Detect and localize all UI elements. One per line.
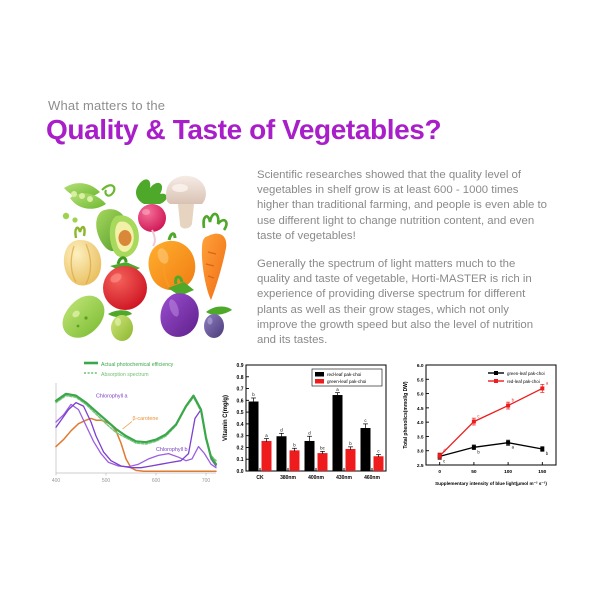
eyebrow-text: What matters to the [48,98,165,113]
y-tick-label: 0.8 [237,375,244,381]
y-tick-label: 6.0 [417,363,424,369]
chart-spectrum: Actual photochemical efficiencyAbsorptio… [40,355,220,500]
x-tick-label: 150 [538,469,546,475]
y-tick-label: 0.3 [237,434,244,440]
y-axis-title: Vitamin C(mg/g) [223,395,229,441]
series-line-0 [440,443,543,457]
legend-swatch-0 [315,372,324,377]
legend-label-1: green-leaf pak-choi [327,379,366,384]
sig-letter: b [252,392,255,397]
green-olive-icon [108,310,133,341]
y-tick-label: 2.5 [417,463,424,469]
sig-letter: c [477,414,479,419]
sig-letter: d [308,430,311,435]
sig-letter: b [349,441,352,446]
bar-430nm-1 [346,449,356,471]
x-tick-label: 400nm [308,475,324,481]
y-tick-label: 0.6 [237,398,244,404]
bar-430nm-0 [333,395,343,471]
x-tick-label: 600 [152,478,161,484]
annotation-leader [123,422,133,429]
x-tick-label: 500 [102,478,111,484]
x-tick-label: 430nm [336,475,352,481]
bar-400nm-0 [305,441,315,471]
y-tick-label: 3.5 [417,434,424,440]
black-olive-icon [204,307,232,339]
x-tick-label: 100 [504,469,512,475]
sig-letter: d [280,428,283,433]
y-tick-label: 0.1 [237,457,244,463]
radish-icon [136,179,167,246]
sig-letter: a [546,380,549,385]
sig-letter: a [265,433,268,438]
series-absorption-spectrum [56,396,216,461]
poster-page: What matters to the Quality & Taste of V… [0,0,600,600]
sig-letter: b [477,449,480,454]
x-axis-title: Supplementary intensity of blue light(μm… [435,481,547,486]
x-tick-label: 380nm [280,475,296,481]
y-tick-label: 5.0 [417,392,424,398]
vegetables-illustration [56,166,242,342]
data-point [506,404,510,408]
legend: green-leaf pak-choired-leaf pak-choi [488,371,545,384]
charts-strip: Actual photochemical efficiencyAbsorptio… [0,355,600,500]
annotation-2: Chlorophyll b [156,447,187,453]
cucumber-icon [63,296,105,338]
legend-label-0: red-leaf pak-choi [327,372,361,377]
sig-letter: c [377,449,380,454]
carrot-icon [202,214,227,300]
bar-380nm-0 [277,436,287,471]
data-point [506,441,510,445]
bar-460nm-0 [361,428,371,471]
x-tick-label: 400 [52,478,61,484]
page-title: Quality & Taste of Vegetables? [46,114,441,146]
y-tick-label: 0.4 [237,422,244,428]
chart-vitamin-c: 0.00.10.20.30.40.50.60.70.80.9Vitamin C(… [216,355,392,500]
sig-letter: c [443,458,445,463]
legend-label-efficiency: Actual photochemical efficiency [101,362,174,368]
legend-swatch-1 [315,379,324,384]
legend-label-absorption: Absorption spectrum [101,372,149,378]
bar-400nm-1 [318,453,328,471]
y-tick-label: 0.7 [237,387,244,393]
x-tick-label: 50 [471,469,477,475]
y-tick-label: 0.9 [237,363,244,369]
x-tick-label: 460nm [364,475,380,481]
data-point [472,445,476,449]
series-β-carotene [56,418,216,471]
mushroom-icon [166,176,206,229]
bar-460nm-1 [374,456,384,471]
data-point [540,386,544,390]
annotation-0: Chlorophyll a [96,393,127,399]
x-tick-label: 700 [202,478,211,484]
y-tick-label: 0.2 [237,445,244,451]
chart-total-phenolics: 2.53.03.54.04.55.05.56.0Total phenolics(… [396,355,562,500]
legend-label-0: green-leaf pak-choi [507,371,545,376]
y-tick-label: 0.5 [237,410,244,416]
y-tick-label: 0.0 [237,469,244,475]
bar-CK-1 [262,441,272,471]
sig-letter: b [512,398,515,403]
x-tick-label: CK [256,475,264,481]
legend: red-leaf pak-choigreen-leaf pak-choi [312,369,382,386]
y-tick-label: 3.0 [417,449,424,455]
x-tick-label: 0 [438,469,441,475]
data-point [472,420,476,424]
legend-label-1: red-leaf pak-choi [507,379,540,384]
sig-letter: a [336,387,339,392]
paragraph-2: Generally the spectrum of light matters … [257,257,549,348]
data-point [438,454,442,458]
bar-380nm-1 [290,450,300,471]
sig-letter: c [364,418,367,423]
onion-icon [64,227,101,285]
sig-letter: bc [320,446,325,451]
y-tick-label: 4.0 [417,420,424,426]
legend-marker-1 [494,379,498,383]
sig-letter: b [293,442,296,447]
annotation-1: β-carotene [133,416,159,422]
legend-marker-0 [494,371,498,375]
sig-letter: a [512,445,515,450]
body-copy: Scientific researches showed that the qu… [257,168,549,361]
paragraph-1: Scientific researches showed that the qu… [257,168,549,244]
data-point [540,447,544,451]
tomato-icon [103,258,147,310]
avocado-icon [96,209,139,257]
y-tick-label: 4.5 [417,406,424,412]
bar-CK-0 [249,402,259,471]
sig-letter: b [546,451,549,456]
y-tick-label: 5.5 [417,377,424,383]
y-axis-title: Total phenolics(mmol/g DW) [403,381,409,448]
